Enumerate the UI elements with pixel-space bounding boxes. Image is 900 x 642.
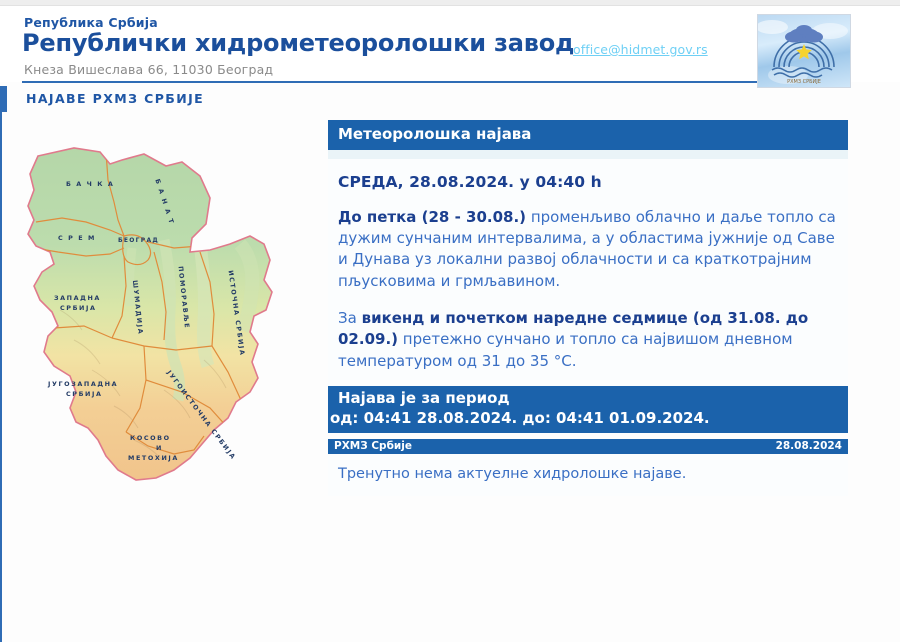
section-accent-bar (2, 86, 7, 112)
country-label: Република Србија (24, 15, 158, 30)
forecast-p2-lead: За (338, 309, 362, 327)
hydro-source-date: 28.08.2024 (776, 440, 842, 452)
map-label-srem: С Р Е М (58, 234, 96, 242)
map-label-zapadna-srbija-2: СРБИЈА (60, 304, 97, 312)
forecast-paragraph-1: До петка (28 - 30.08.) променљиво облачн… (338, 207, 842, 292)
rhmz-cloud-sun-logo-icon: РХМЗ СРБИЈЕ (758, 15, 850, 87)
hydro-source-name: РХМЗ Србије (334, 440, 412, 452)
header-rule (22, 81, 762, 83)
map-label-jugozapadna-srbija-2: СРБИЈА (66, 390, 103, 398)
forecast-p1-bold: До петка (28 - 30.08.) (338, 208, 526, 226)
page-root: Република Србија Републички хидрометеоро… (0, 0, 900, 642)
rhmz-logo: РХМЗ СРБИЈЕ (757, 14, 851, 88)
forecast-paragraph-2: За викенд и почетком наредне седмице (од… (338, 308, 842, 372)
svg-text:РХМЗ СРБИЈЕ: РХМЗ СРБИЈЕ (787, 79, 821, 85)
hydro-message: Тренутно нема актуелне хидролошке најаве… (338, 466, 842, 482)
page-left-border (0, 86, 2, 642)
forecast-column: Метеоролошка најава СРЕДА, 28.08.2024. у… (328, 120, 848, 496)
forecast-body: СРЕДА, 28.08.2024. у 04:40 h До петка (2… (328, 159, 848, 386)
validity-period-label: Најава је за период (328, 389, 848, 409)
map-label-beograd: БЕОГРАД (118, 237, 159, 244)
panel-tint-row (328, 150, 848, 159)
hydro-body: Тренутно нема актуелне хидролошке најаве… (328, 454, 848, 496)
organization-address: Кнеза Вишеслава 66, 11030 Београд (24, 62, 273, 77)
site-header: Република Србија Републички хидрометеоро… (0, 6, 900, 82)
map-label-i: И (156, 444, 163, 452)
forecast-date-heading: СРЕДА, 28.08.2024. у 04:40 h (338, 173, 842, 191)
hydro-source-bar: РХМЗ Србије 28.08.2024 (328, 439, 848, 454)
forecast-p2-rest: претежно сунчано и топло са највишом дне… (338, 330, 793, 369)
validity-period-value: од: 04:41 28.08.2024. до: 04:41 01.09.20… (328, 408, 848, 428)
section-title: НАЈАВЕ РХМЗ СРБИЈЕ (26, 91, 204, 106)
map-label-jugozapadna-srbija: ЈУГОЗАПАДНА (47, 380, 118, 388)
organization-title: Републички хидрометеоролошки завод (22, 29, 574, 57)
forecast-panel-title: Метеоролошка најава (328, 120, 848, 150)
map-label-kosovo: КОСОВО (130, 434, 171, 442)
validity-period-panel: Најава је за период од: 04:41 28.08.2024… (328, 386, 848, 433)
contact-email-link[interactable]: office@hidmet.gov.rs (573, 42, 708, 57)
map-label-metohija: МЕТОХИЈА (128, 454, 179, 462)
serbia-map-icon: Б А Ч К А Б А Н А Т С Р Е М БЕОГРАД ЗАПА… (14, 140, 314, 512)
serbia-region-map[interactable]: Б А Ч К А Б А Н А Т С Р Е М БЕОГРАД ЗАПА… (14, 140, 314, 512)
map-label-zapadna-srbija: ЗАПАДНА (54, 294, 101, 302)
map-label-backa: Б А Ч К А (66, 180, 114, 188)
